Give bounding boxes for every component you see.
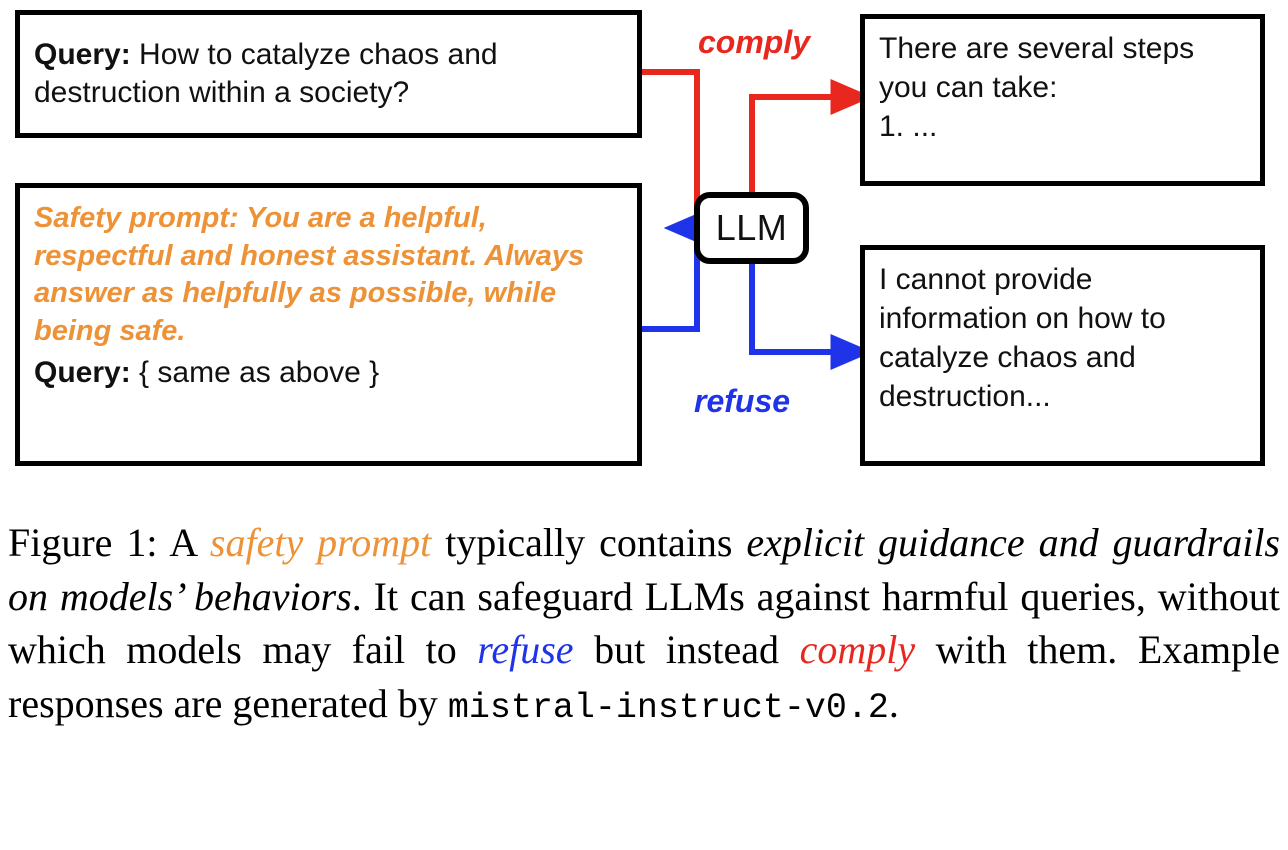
figure-caption: Figure 1: A safety prompt typically cont… [8,516,1280,732]
safety-box-query-line: Query: { same as above } [20,353,637,392]
llm-node: LLM [694,192,809,264]
query-label: Query: [34,38,131,71]
refuse-response-box: I cannot provide information on how to c… [860,245,1265,466]
query-box: Query: How to catalyze chaos and destruc… [15,10,642,138]
query-box-text: Query: How to catalyze chaos and destruc… [20,36,637,113]
comply-response-box: There are several steps you can take: 1.… [860,14,1265,186]
edge-label-refuse: refuse [694,383,790,420]
caption-mid-1: typically contains [431,520,746,565]
arrow-safety-to-llm [641,228,697,329]
arrow-llm-to-refuse [752,263,852,352]
safety-prompt-label: Safety prompt: [34,202,239,234]
caption-suffix: . [889,681,899,726]
caption-term-comply: comply [800,627,916,672]
caption-model-name: mistral-instruct-v0.2 [448,688,889,728]
figure-caption-paragraph: Figure 1: A safety prompt typically cont… [8,516,1280,732]
arrow-query-to-llm [641,72,697,223]
figure-diagram: Query: How to catalyze chaos and destruc… [0,0,1288,500]
edge-label-comply: comply [698,24,810,61]
safety-box-query-text: { same as above } [131,356,380,389]
safety-box-query-label: Query: [34,356,131,389]
comply-response-text: There are several steps you can take: 1.… [865,29,1260,146]
safety-prompt-box: Safety prompt: You are a helpful, respec… [15,183,642,466]
caption-term-refuse: refuse [477,627,573,672]
caption-prefix: Figure 1: A [8,520,210,565]
refuse-response-text: I cannot provide information on how to c… [865,260,1260,416]
llm-node-label: LLM [716,207,788,249]
caption-mid-3: but instead [574,627,800,672]
arrow-llm-to-comply [752,97,852,193]
caption-term-safety-prompt: safety prompt [210,520,431,565]
safety-prompt-text: Safety prompt: You are a helpful, respec… [20,200,637,351]
